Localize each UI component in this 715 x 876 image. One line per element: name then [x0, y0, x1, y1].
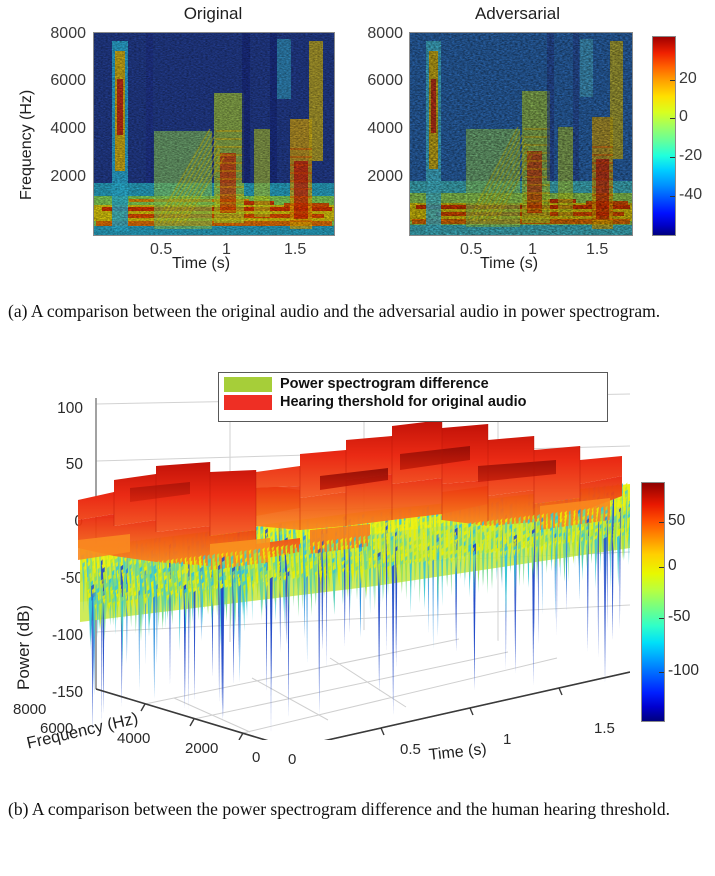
legend-swatch-difference [224, 377, 272, 392]
spectrogram-colorbar-label-20: 20 [679, 70, 697, 88]
legend-label-threshold: Hearing thershold for original audio [280, 394, 527, 410]
spectrogram-colorbar-tick-0 [670, 118, 675, 119]
adversarial-ytick-8000: 8000 [345, 25, 403, 43]
surface-colorbar-tick-neg100 [659, 672, 664, 673]
surface-colorbar-label-50: 50 [668, 512, 685, 530]
ttick-0: 0 [288, 751, 296, 768]
adversarial-plot-title: Adversarial [405, 4, 630, 24]
original-spectrogram-image [93, 32, 335, 236]
ftick-8000: 8000 [13, 701, 46, 718]
surface-colorbar-label-neg50: -50 [668, 608, 690, 626]
original-ylabel: Frequency (Hz) [18, 90, 36, 200]
adversarial-xtick-0-5: 0.5 [460, 241, 482, 259]
original-xtick-0-5: 0.5 [150, 241, 172, 259]
spectrogram-colorbar-label-neg40: -40 [679, 186, 702, 204]
time-axis-label: Time (s) [428, 741, 488, 765]
surface-colorbar-tick-neg50 [659, 618, 664, 619]
spectrogram-colorbar-label-0: 0 [679, 108, 688, 126]
original-xlabel: Time (s) [172, 255, 230, 273]
spectrogram-colorbar-tick-20 [670, 80, 675, 81]
surface-colorbar [641, 482, 665, 722]
spectrogram-colorbar [652, 36, 676, 236]
caption-b: (b) A comparison between the power spect… [8, 798, 688, 820]
surface-colorbar-tick-50 [659, 522, 664, 523]
caption-a: (a) A comparison between the original au… [8, 300, 688, 322]
legend-item-difference: Power spectrogram difference [224, 376, 601, 392]
adversarial-ytick-2000: 2000 [345, 168, 403, 186]
ftick-0: 0 [252, 749, 260, 766]
surface-colorbar-tick-0 [659, 567, 664, 568]
legend: Power spectrogram difference Hearing the… [218, 372, 608, 422]
legend-item-threshold: Hearing thershold for original audio [224, 394, 601, 410]
adversarial-xtick-1-5: 1.5 [586, 241, 608, 259]
surface-plot-3d [70, 380, 630, 740]
ftick-2000: 2000 [185, 740, 218, 757]
adversarial-spectrogram-image [409, 32, 633, 236]
original-xtick-1-5: 1.5 [284, 241, 306, 259]
original-ytick-6000: 6000 [26, 72, 86, 90]
adversarial-xlabel: Time (s) [480, 255, 538, 273]
original-ytick-8000: 8000 [26, 25, 86, 43]
adversarial-ytick-6000: 6000 [345, 72, 403, 90]
legend-label-difference: Power spectrogram difference [280, 376, 489, 392]
panel-b-3d-comparison: Power spectrogram difference Hearing the… [0, 360, 715, 790]
power-axis-label: Power (dB) [14, 605, 34, 690]
original-plot-title: Original [93, 4, 333, 24]
ttick-0-5: 0.5 [400, 741, 421, 758]
spectrogram-colorbar-label-neg20: -20 [679, 147, 702, 165]
spectrogram-colorbar-tick-neg40 [670, 196, 675, 197]
panel-a-spectrograms: Original 8000 6000 4000 2000 Frequency (… [0, 0, 715, 290]
surface-colorbar-label-0: 0 [668, 557, 677, 575]
legend-swatch-threshold [224, 395, 272, 410]
adversarial-ytick-4000: 4000 [345, 120, 403, 138]
figure-root: Original 8000 6000 4000 2000 Frequency (… [0, 0, 715, 876]
spectrogram-colorbar-tick-neg20 [670, 157, 675, 158]
surface-colorbar-label-neg100: -100 [668, 662, 699, 680]
